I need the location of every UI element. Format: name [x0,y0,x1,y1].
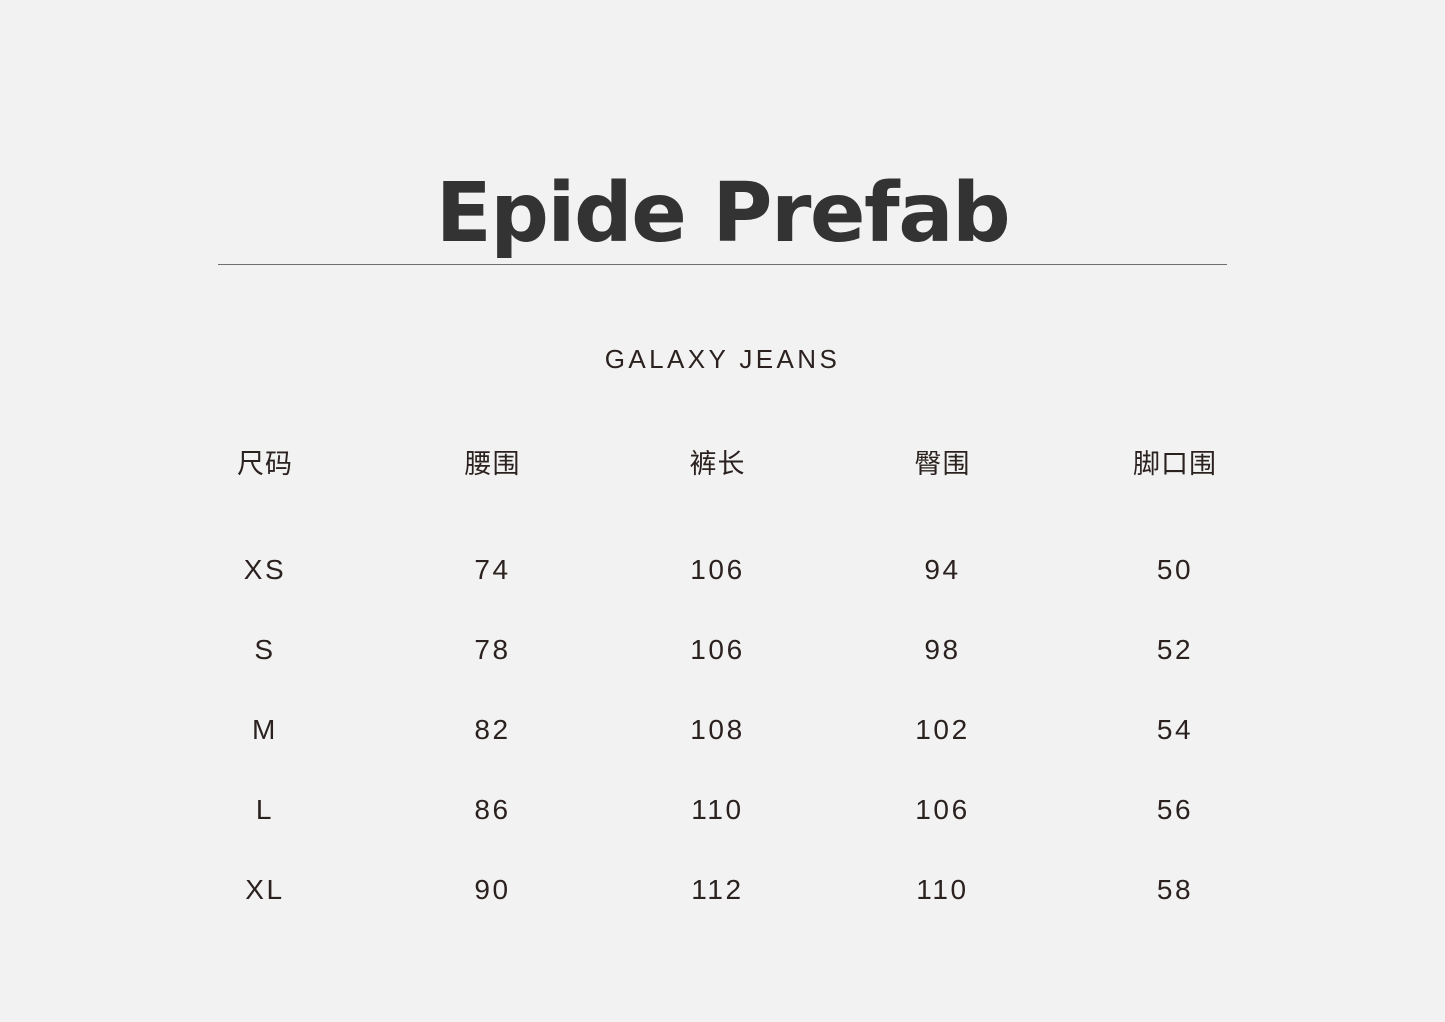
cell-leg-opening: 54 [1055,690,1295,770]
cell-leg-opening: 56 [1055,770,1295,850]
cell-waist: 74 [380,530,605,610]
table-header-row: 尺码 腰围 裤长 臀围 脚口围 [150,430,1295,492]
header-spacer-row [150,492,1295,530]
cell-hip: 110 [830,850,1055,930]
product-name: GALAXY JEANS [0,344,1445,375]
table-row: S 78 106 98 52 [150,610,1295,690]
table-row: XL 90 112 110 58 [150,850,1295,930]
cell-waist: 90 [380,850,605,930]
column-header-length: 裤长 [605,430,830,492]
cell-hip: 94 [830,530,1055,610]
cell-leg-opening: 52 [1055,610,1295,690]
brand-title: Epide Prefab [0,173,1445,255]
size-chart-page: Epide Prefab GALAXY JEANS 尺码 腰围 裤长 臀围 脚口… [0,0,1445,1022]
size-chart-table: 尺码 腰围 裤长 臀围 脚口围 XS 74 106 94 50 [150,430,1295,930]
cell-leg-opening: 58 [1055,850,1295,930]
cell-size: XS [150,530,380,610]
cell-size: XL [150,850,380,930]
cell-length: 106 [605,610,830,690]
table-row: L 86 110 106 56 [150,770,1295,850]
cell-hip: 106 [830,770,1055,850]
cell-waist: 78 [380,610,605,690]
cell-hip: 102 [830,690,1055,770]
cell-size: M [150,690,380,770]
cell-size: L [150,770,380,850]
cell-length: 112 [605,850,830,930]
cell-length: 108 [605,690,830,770]
table-row: XS 74 106 94 50 [150,530,1295,610]
cell-length: 110 [605,770,830,850]
table-row: M 82 108 102 54 [150,690,1295,770]
header-divider [218,264,1227,265]
size-chart-header: 尺码 腰围 裤长 臀围 脚口围 [150,430,1295,530]
cell-waist: 82 [380,690,605,770]
cell-waist: 86 [380,770,605,850]
cell-length: 106 [605,530,830,610]
column-header-hip: 臀围 [830,430,1055,492]
column-header-leg-opening: 脚口围 [1055,430,1295,492]
column-header-size: 尺码 [150,430,380,492]
column-header-waist: 腰围 [380,430,605,492]
cell-leg-opening: 50 [1055,530,1295,610]
cell-size: S [150,610,380,690]
size-chart-body: XS 74 106 94 50 S 78 106 98 52 M 82 108 … [150,530,1295,930]
cell-hip: 98 [830,610,1055,690]
